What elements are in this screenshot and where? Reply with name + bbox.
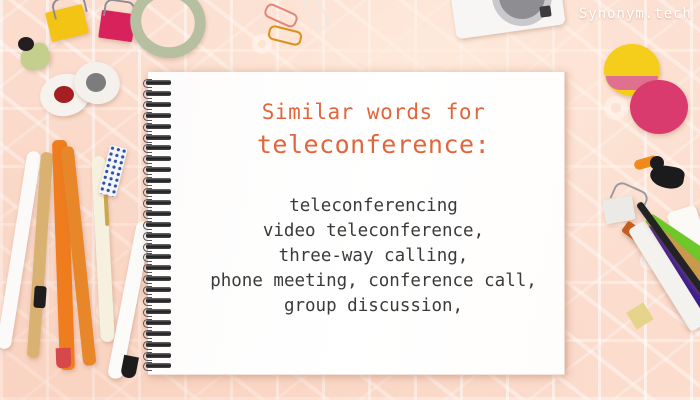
spiral-ring (146, 363, 171, 368)
spiral-ring (146, 167, 171, 172)
spiral-ring (146, 265, 171, 270)
spiral-ring (146, 156, 171, 161)
heading-line-1: Similar words for (182, 100, 565, 124)
stone-red-center (54, 86, 74, 103)
screenshot-canvas: Similar words for teleconference: teleco… (0, 0, 700, 400)
spiral-ring (146, 200, 171, 205)
spiral-ring (146, 320, 171, 325)
synonym-line: phone meeting, conference call, (182, 269, 565, 294)
spiral-ring (146, 178, 171, 183)
pencil-wood-tip (33, 286, 47, 309)
spiral-ring (146, 233, 171, 238)
spiral-ring (146, 254, 171, 259)
spiral-ring (146, 331, 171, 336)
toucan-sticker-head (650, 156, 664, 170)
stone-gray-center (86, 73, 106, 92)
spiral-ring (146, 145, 171, 150)
spiral-ring (146, 287, 171, 292)
spiral-ring (146, 309, 171, 314)
synonym-line: teleconferencing (182, 194, 565, 219)
spiral-ring (146, 244, 171, 249)
spiral-ring (146, 211, 171, 216)
macaron-pink (630, 80, 688, 134)
pencil-orange-eraser (56, 348, 72, 369)
spiral-ring (146, 124, 171, 129)
site-watermark: Synonym.tech (579, 6, 692, 22)
camera-flash (539, 5, 551, 17)
spiral-binding (142, 80, 174, 370)
spiral-ring (146, 276, 171, 281)
spiral-ring (146, 189, 171, 194)
spiral-ring (146, 113, 171, 118)
spiral-ring (146, 135, 171, 140)
synonym-line: video teleconference, (182, 219, 565, 244)
spiral-ring (146, 222, 171, 227)
spiral-ring (146, 353, 171, 358)
spiral-ring (146, 342, 171, 347)
notebook-page: Similar words for teleconference: teleco… (148, 72, 565, 375)
spiral-ring (146, 102, 171, 107)
bird-figurine-head (18, 37, 34, 51)
heading-line-2: teleconference: (182, 130, 565, 159)
spiral-ring (146, 91, 171, 96)
synonym-line: group discussion, (182, 294, 565, 319)
synonym-line: three-way calling, (182, 244, 565, 269)
synonym-list: teleconferencing video teleconference, t… (182, 194, 565, 319)
page-content: Similar words for teleconference: teleco… (182, 72, 565, 375)
spiral-ring (146, 298, 171, 303)
spiral-ring (146, 80, 171, 85)
